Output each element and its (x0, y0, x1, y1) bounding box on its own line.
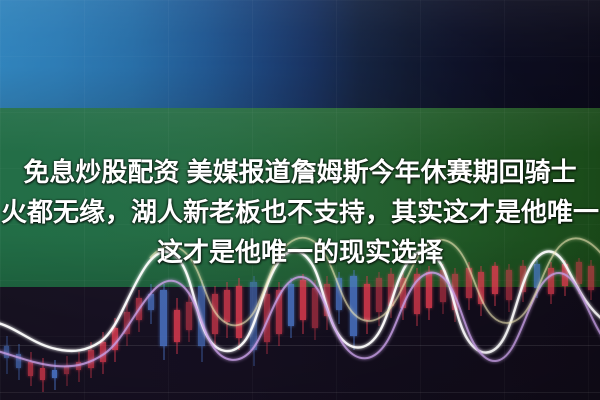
ma-line-lavender (0, 273, 600, 367)
headline-line-2: 火都无缘，湖人新老板也不支持，其实这才是他唯一 (0, 192, 600, 232)
headline-line-3: 这才是他唯一的现实选择 (0, 232, 600, 272)
news-thumbnail-image: 免息炒股配资 美媒报道詹姆斯今年休赛期回骑士 火都无缘，湖人新老板也不支持，其实… (0, 0, 600, 400)
headline-text: 免息炒股配资 美媒报道詹姆斯今年休赛期回骑士 火都无缘，湖人新老板也不支持，其实… (0, 152, 600, 272)
headline-line-1: 免息炒股配资 美媒报道詹姆斯今年休赛期回骑士 (0, 152, 600, 192)
